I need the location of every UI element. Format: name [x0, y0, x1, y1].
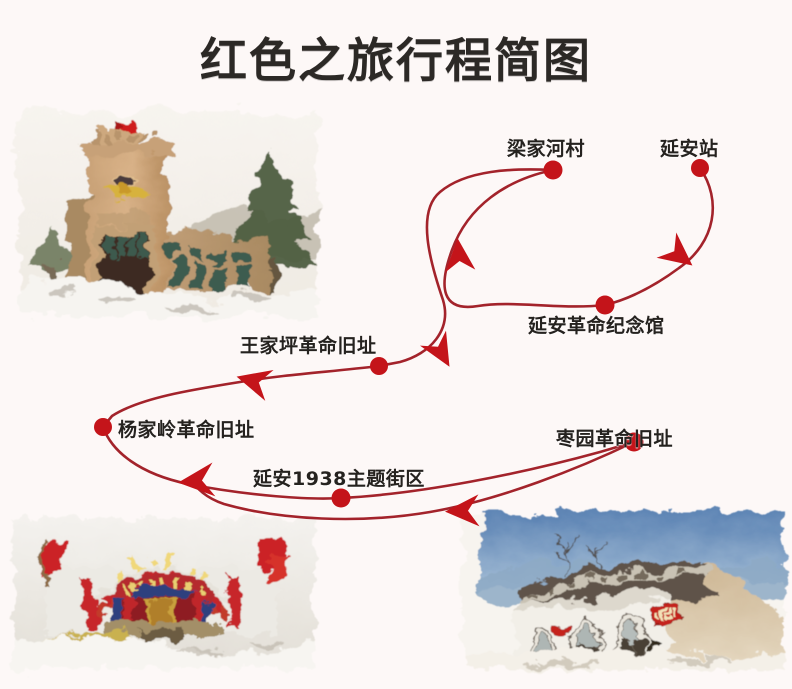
node-liangjiahecun: [544, 161, 563, 180]
stop-label-yanan1938[interactable]: 延安1938主题街区: [253, 464, 425, 491]
trip-route-map: 红色之旅行程简图: [0, 0, 792, 689]
stop-label-zaoyuan[interactable]: 枣园革命旧址: [556, 424, 673, 451]
arrow-to-liangjiahe: [443, 237, 476, 272]
segment-jinianguan-to-liangjiahe: [445, 170, 605, 307]
node-yangjialing: [94, 418, 112, 436]
stop-label-yangjialing[interactable]: 杨家岭革命旧址: [118, 415, 255, 442]
stop-label-wangjiaping[interactable]: 王家坪革命旧址: [240, 331, 377, 358]
stop-label-jinianguan[interactable]: 延安革命纪念馆: [528, 311, 665, 338]
node-wangjiaping: [370, 357, 388, 375]
arrow-to-wangjiaping: [420, 331, 462, 375]
node-yanan1938: [332, 489, 351, 508]
segment-yananzhan-to-jinianguan: [605, 168, 713, 305]
arrow-to-zaoyuan: [444, 494, 479, 527]
stop-label-yananzhan[interactable]: 延安站: [660, 134, 719, 161]
route-layer: [0, 0, 792, 689]
arrow-to-yanan1938: [177, 462, 216, 499]
node-yananzhan: [691, 159, 709, 177]
stop-label-liangjiahecun[interactable]: 梁家河村: [507, 134, 585, 161]
